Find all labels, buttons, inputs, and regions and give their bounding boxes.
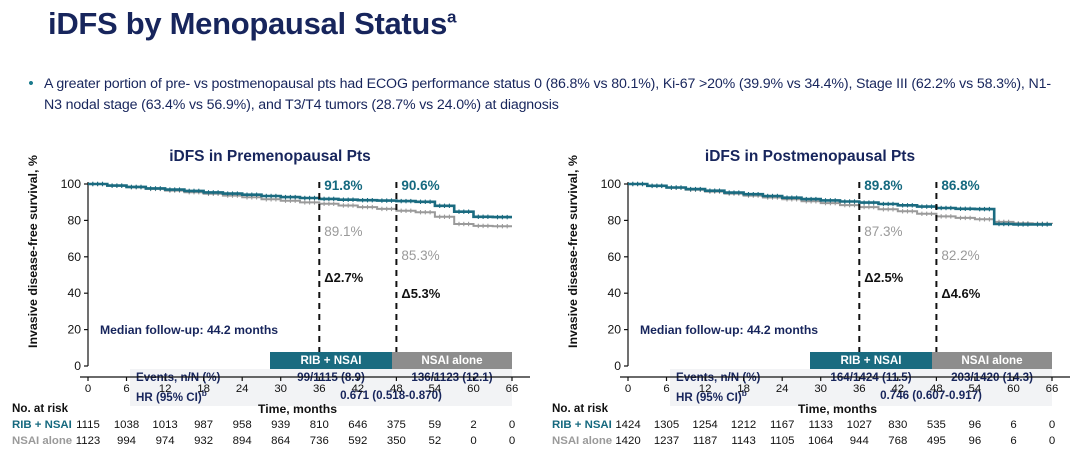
page-title-superscript: a	[447, 8, 456, 27]
x-tick-label: 18	[737, 383, 750, 395]
x-tick-label: 42	[351, 383, 364, 395]
at-risk-count: 592	[348, 435, 367, 447]
chart-title: iDFS in Postmenopausal Pts	[540, 148, 1080, 166]
svg-text:20: 20	[607, 323, 621, 337]
at-risk-count: 944	[850, 435, 869, 447]
x-axis-svg	[0, 376, 540, 386]
at-risk-row: NSAI alone142012371187114311051064944768…	[540, 435, 1080, 450]
x-tick-label: 6	[123, 383, 129, 395]
x-tick-label: 42	[891, 383, 904, 395]
at-risk-count: 864	[271, 435, 290, 447]
at-risk-count: 1027	[847, 419, 872, 431]
table-header-nsai: NSAI alone	[932, 352, 1052, 369]
landmark-nsai-value: 85.3%	[401, 248, 439, 263]
chart-title: iDFS in Premenopausal Pts	[0, 148, 540, 166]
bullet-list: • A greater portion of pre- vs postmenop…	[18, 74, 1068, 116]
at-risk-legend-rib: RIB + NSAI	[12, 419, 72, 431]
bullet-text: A greater portion of pre- vs postmenopau…	[44, 74, 1068, 116]
x-tick-label: 0	[85, 383, 91, 395]
x-tick-label: 66	[1046, 383, 1059, 395]
at-risk-count: 1167	[770, 419, 795, 431]
at-risk-count: 495	[927, 435, 946, 447]
svg-text:60: 60	[67, 250, 81, 264]
x-axis-label: Time, months	[258, 402, 337, 416]
landmark-delta: Δ4.6%	[941, 286, 980, 301]
at-risk-legend-nsai: NSAI alone	[12, 435, 72, 447]
at-risk-count: 1254	[692, 419, 717, 431]
x-tick-label: 12	[699, 383, 712, 395]
at-risk-count: 96	[969, 419, 982, 431]
at-risk-title: No. at risk	[12, 402, 68, 415]
at-risk-count: 830	[888, 419, 907, 431]
x-tick-label: 66	[506, 383, 519, 395]
at-risk-count: 59	[429, 419, 442, 431]
at-risk-count: 350	[387, 435, 406, 447]
at-risk-count: 1424	[615, 419, 640, 431]
svg-text:60: 60	[607, 250, 621, 264]
landmark-delta: Δ2.5%	[864, 270, 903, 285]
chart-panel-premenopausal: iDFS in Premenopausal PtsInvasive diseas…	[0, 140, 540, 476]
landmark-delta: Δ2.7%	[324, 270, 363, 285]
bullet-marker-icon: •	[18, 74, 44, 93]
at-risk-count: 0	[1049, 435, 1055, 447]
at-risk-count: 96	[969, 435, 982, 447]
svg-text:40: 40	[67, 286, 81, 300]
x-tick-label: 48	[930, 383, 943, 395]
at-risk-count: 810	[310, 419, 329, 431]
at-risk-count: 1013	[152, 419, 177, 431]
landmark-delta: Δ5.3%	[401, 286, 440, 301]
x-tick-label: 12	[159, 383, 172, 395]
at-risk-count: 6	[1010, 419, 1016, 431]
landmark-rib-value: 91.8%	[324, 178, 362, 193]
at-risk-count: 1212	[731, 419, 756, 431]
at-risk-count: 768	[888, 435, 907, 447]
x-tick-label: 54	[429, 383, 442, 395]
at-risk-count: 0	[470, 435, 476, 447]
x-axis-label: Time, months	[798, 402, 877, 416]
at-risk-count: 1115	[76, 419, 100, 431]
at-risk-count: 52	[429, 435, 442, 447]
at-risk-count: 1143	[731, 435, 756, 447]
svg-text:40: 40	[607, 286, 621, 300]
at-risk-row: NSAI alone112399497493289486473659235052…	[0, 435, 540, 450]
x-tick-label: 60	[467, 383, 480, 395]
page-title-text: iDFS by Menopausal Status	[48, 6, 447, 41]
at-risk-legend-nsai: NSAI alone	[552, 435, 612, 447]
x-tick-label: 6	[663, 383, 669, 395]
median-followup-label: Median follow-up: 44.2 months	[640, 323, 818, 337]
svg-text:100: 100	[61, 178, 82, 191]
at-risk-count: 375	[387, 419, 406, 431]
at-risk-count: 974	[156, 435, 175, 447]
landmark-nsai-value: 89.1%	[324, 224, 362, 239]
x-tick-label: 18	[197, 383, 210, 395]
at-risk-count: 736	[310, 435, 329, 447]
table-header-row: RIB + NSAI NSAI alone	[670, 352, 1052, 369]
at-risk-count: 2	[470, 419, 476, 431]
at-risk-count: 1305	[654, 419, 679, 431]
landmark-rib-value: 89.8%	[864, 178, 902, 193]
x-tick-label: 36	[313, 383, 326, 395]
at-risk-count: 994	[117, 435, 136, 447]
svg-text:0: 0	[74, 359, 81, 373]
x-tick-label: 36	[853, 383, 866, 395]
landmark-rib-value: 86.8%	[941, 178, 979, 193]
table-corner-cell	[670, 352, 810, 369]
x-tick-label: 48	[390, 383, 403, 395]
landmark-nsai-value: 82.2%	[941, 248, 979, 263]
at-risk-count: 939	[271, 419, 290, 431]
svg-text:100: 100	[601, 178, 622, 191]
x-axis: 0612182430364248546066Time, months	[0, 376, 540, 406]
x-axis: 0612182430364248546066Time, months	[540, 376, 1080, 406]
at-risk-count: 894	[233, 435, 252, 447]
at-risk-count: 1123	[76, 435, 101, 447]
svg-text:80: 80	[607, 213, 621, 227]
at-risk-count: 1064	[808, 435, 833, 447]
table-header-rib: RIB + NSAI	[810, 352, 932, 369]
at-risk-row: RIB + NSAI142413051254121211671133102783…	[540, 419, 1080, 434]
at-risk-count: 1105	[770, 435, 795, 447]
at-risk-count: 0	[509, 419, 515, 431]
landmark-rib-value: 90.6%	[401, 178, 439, 193]
at-risk-row: RIB + NSAI111510381013987958939810646375…	[0, 419, 540, 434]
x-axis-svg	[540, 376, 1080, 386]
table-header-row: RIB + NSAI NSAI alone	[130, 352, 512, 369]
page-title: iDFS by Menopausal Statusa	[48, 6, 456, 42]
x-tick-label: 0	[625, 383, 631, 395]
svg-text:20: 20	[67, 323, 81, 337]
table-corner-cell	[130, 352, 270, 369]
at-risk-count: 646	[348, 419, 367, 431]
table-header-nsai: NSAI alone	[392, 352, 512, 369]
at-risk-count: 958	[233, 419, 252, 431]
at-risk-count: 0	[509, 435, 515, 447]
x-tick-label: 60	[1007, 383, 1020, 395]
at-risk-count: 1038	[114, 419, 139, 431]
svg-text:0: 0	[614, 359, 621, 373]
chart-panel-postmenopausal: iDFS in Postmenopausal PtsInvasive disea…	[540, 140, 1080, 476]
landmark-nsai-value: 87.3%	[864, 224, 902, 239]
at-risk-count: 1237	[654, 435, 679, 447]
at-risk-count: 1420	[615, 435, 640, 447]
at-risk-count: 6	[1010, 435, 1016, 447]
table-header-rib: RIB + NSAI	[270, 352, 392, 369]
at-risk-title: No. at risk	[552, 402, 608, 415]
median-followup-label: Median follow-up: 44.2 months	[100, 323, 278, 337]
x-tick-label: 30	[814, 383, 827, 395]
x-tick-label: 24	[236, 383, 249, 395]
at-risk-count: 0	[1049, 419, 1055, 431]
at-risk-count: 535	[927, 419, 946, 431]
x-tick-label: 24	[776, 383, 789, 395]
x-tick-label: 54	[969, 383, 982, 395]
at-risk-count: 1133	[808, 419, 833, 431]
at-risk-count: 987	[194, 419, 213, 431]
svg-text:80: 80	[67, 213, 81, 227]
at-risk-legend-rib: RIB + NSAI	[552, 419, 612, 431]
at-risk-count: 932	[194, 435, 213, 447]
x-tick-label: 30	[274, 383, 287, 395]
at-risk-count: 1187	[693, 435, 718, 447]
